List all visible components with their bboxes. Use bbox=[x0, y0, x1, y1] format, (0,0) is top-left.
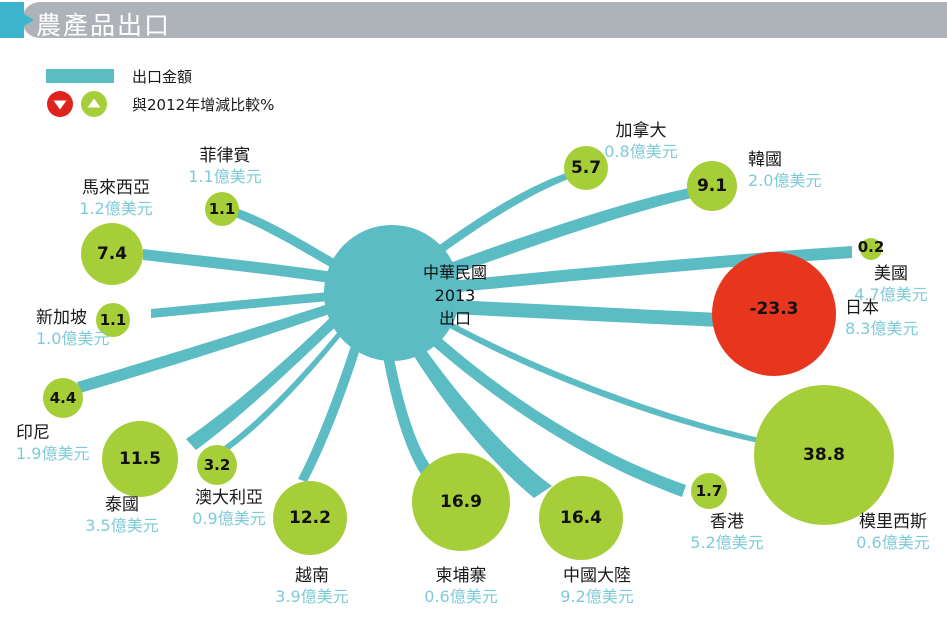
value-malaysia: 7.4 bbox=[97, 244, 127, 264]
amount-indonesia: 1.9億美元 bbox=[16, 444, 89, 464]
value-cambodia: 16.9 bbox=[440, 492, 482, 512]
value-usa: 0.2 bbox=[858, 238, 885, 256]
value-japan: -23.3 bbox=[750, 299, 799, 319]
name-hongkong: 香港 bbox=[690, 512, 763, 533]
amount-china: 9.2億美元 bbox=[560, 587, 633, 607]
label-malaysia: 馬來西亞 1.2億美元 bbox=[79, 178, 152, 218]
hub-line-2: 2013 bbox=[385, 284, 525, 307]
value-china: 16.4 bbox=[560, 508, 602, 528]
amount-vietnam: 3.9億美元 bbox=[275, 587, 348, 607]
name-malaysia: 馬來西亞 bbox=[79, 178, 152, 199]
amount-australia: 0.9億美元 bbox=[192, 509, 265, 529]
value-australia: 3.2 bbox=[204, 456, 231, 474]
value-hongkong: 1.7 bbox=[696, 482, 723, 500]
label-vietnam: 越南 3.9億美元 bbox=[275, 566, 348, 606]
name-thailand: 泰國 bbox=[85, 495, 158, 516]
amount-mauritius: 0.6億美元 bbox=[856, 533, 929, 553]
amount-canada: 0.8億美元 bbox=[604, 142, 677, 162]
label-thailand: 泰國 3.5億美元 bbox=[85, 495, 158, 535]
hub-line-3: 出口 bbox=[385, 307, 525, 330]
amount-korea: 2.0億美元 bbox=[748, 171, 821, 191]
label-singapore: 新加坡 1.0億美元 bbox=[36, 308, 109, 348]
amount-singapore: 1.0億美元 bbox=[36, 329, 109, 349]
name-china: 中國大陸 bbox=[560, 566, 633, 587]
amount-thailand: 3.5億美元 bbox=[85, 516, 158, 536]
name-singapore: 新加坡 bbox=[36, 308, 109, 329]
amount-malaysia: 1.2億美元 bbox=[79, 199, 152, 219]
label-china: 中國大陸 9.2億美元 bbox=[560, 566, 633, 606]
name-indonesia: 印尼 bbox=[16, 423, 89, 444]
label-mauritius: 模里西斯 0.6億美元 bbox=[856, 512, 929, 552]
label-philippines: 菲律賓 1.1億美元 bbox=[188, 146, 261, 186]
label-korea: 韓國 2.0億美元 bbox=[748, 150, 821, 190]
value-philippines: 1.1 bbox=[209, 200, 236, 218]
label-canada: 加拿大 0.8億美元 bbox=[604, 121, 677, 161]
hub-line-1: 中華民國 bbox=[385, 261, 525, 284]
name-philippines: 菲律賓 bbox=[188, 146, 261, 167]
label-indonesia: 印尼 1.9億美元 bbox=[16, 423, 89, 463]
value-vietnam: 12.2 bbox=[289, 508, 331, 528]
value-indonesia: 4.4 bbox=[50, 389, 77, 407]
label-australia: 澳大利亞 0.9億美元 bbox=[192, 488, 265, 528]
name-australia: 澳大利亞 bbox=[192, 488, 265, 509]
name-mauritius: 模里西斯 bbox=[856, 512, 929, 533]
value-mauritius: 38.8 bbox=[803, 445, 845, 465]
infographic-page: 農產品出口 出口金額 與2012年增減比較% bbox=[0, 0, 947, 618]
label-hongkong: 香港 5.2億美元 bbox=[690, 512, 763, 552]
name-vietnam: 越南 bbox=[275, 566, 348, 587]
value-thailand: 11.5 bbox=[119, 449, 161, 469]
value-korea: 9.1 bbox=[697, 176, 727, 196]
amount-hongkong: 5.2億美元 bbox=[690, 533, 763, 553]
name-cambodia: 柬埔寨 bbox=[424, 566, 497, 587]
label-cambodia: 柬埔寨 0.6億美元 bbox=[424, 566, 497, 606]
hub-label: 中華民國 2013 出口 bbox=[385, 261, 525, 331]
label-usa: 美國 4.7億美元 bbox=[854, 264, 927, 304]
amount-japan: 8.3億美元 bbox=[845, 319, 918, 339]
amount-cambodia: 0.6億美元 bbox=[424, 587, 497, 607]
amount-usa: 4.7億美元 bbox=[854, 285, 927, 305]
name-korea: 韓國 bbox=[748, 150, 821, 171]
value-canada: 5.7 bbox=[571, 158, 601, 178]
amount-philippines: 1.1億美元 bbox=[188, 167, 261, 187]
name-usa: 美國 bbox=[854, 264, 927, 285]
name-canada: 加拿大 bbox=[604, 121, 677, 142]
